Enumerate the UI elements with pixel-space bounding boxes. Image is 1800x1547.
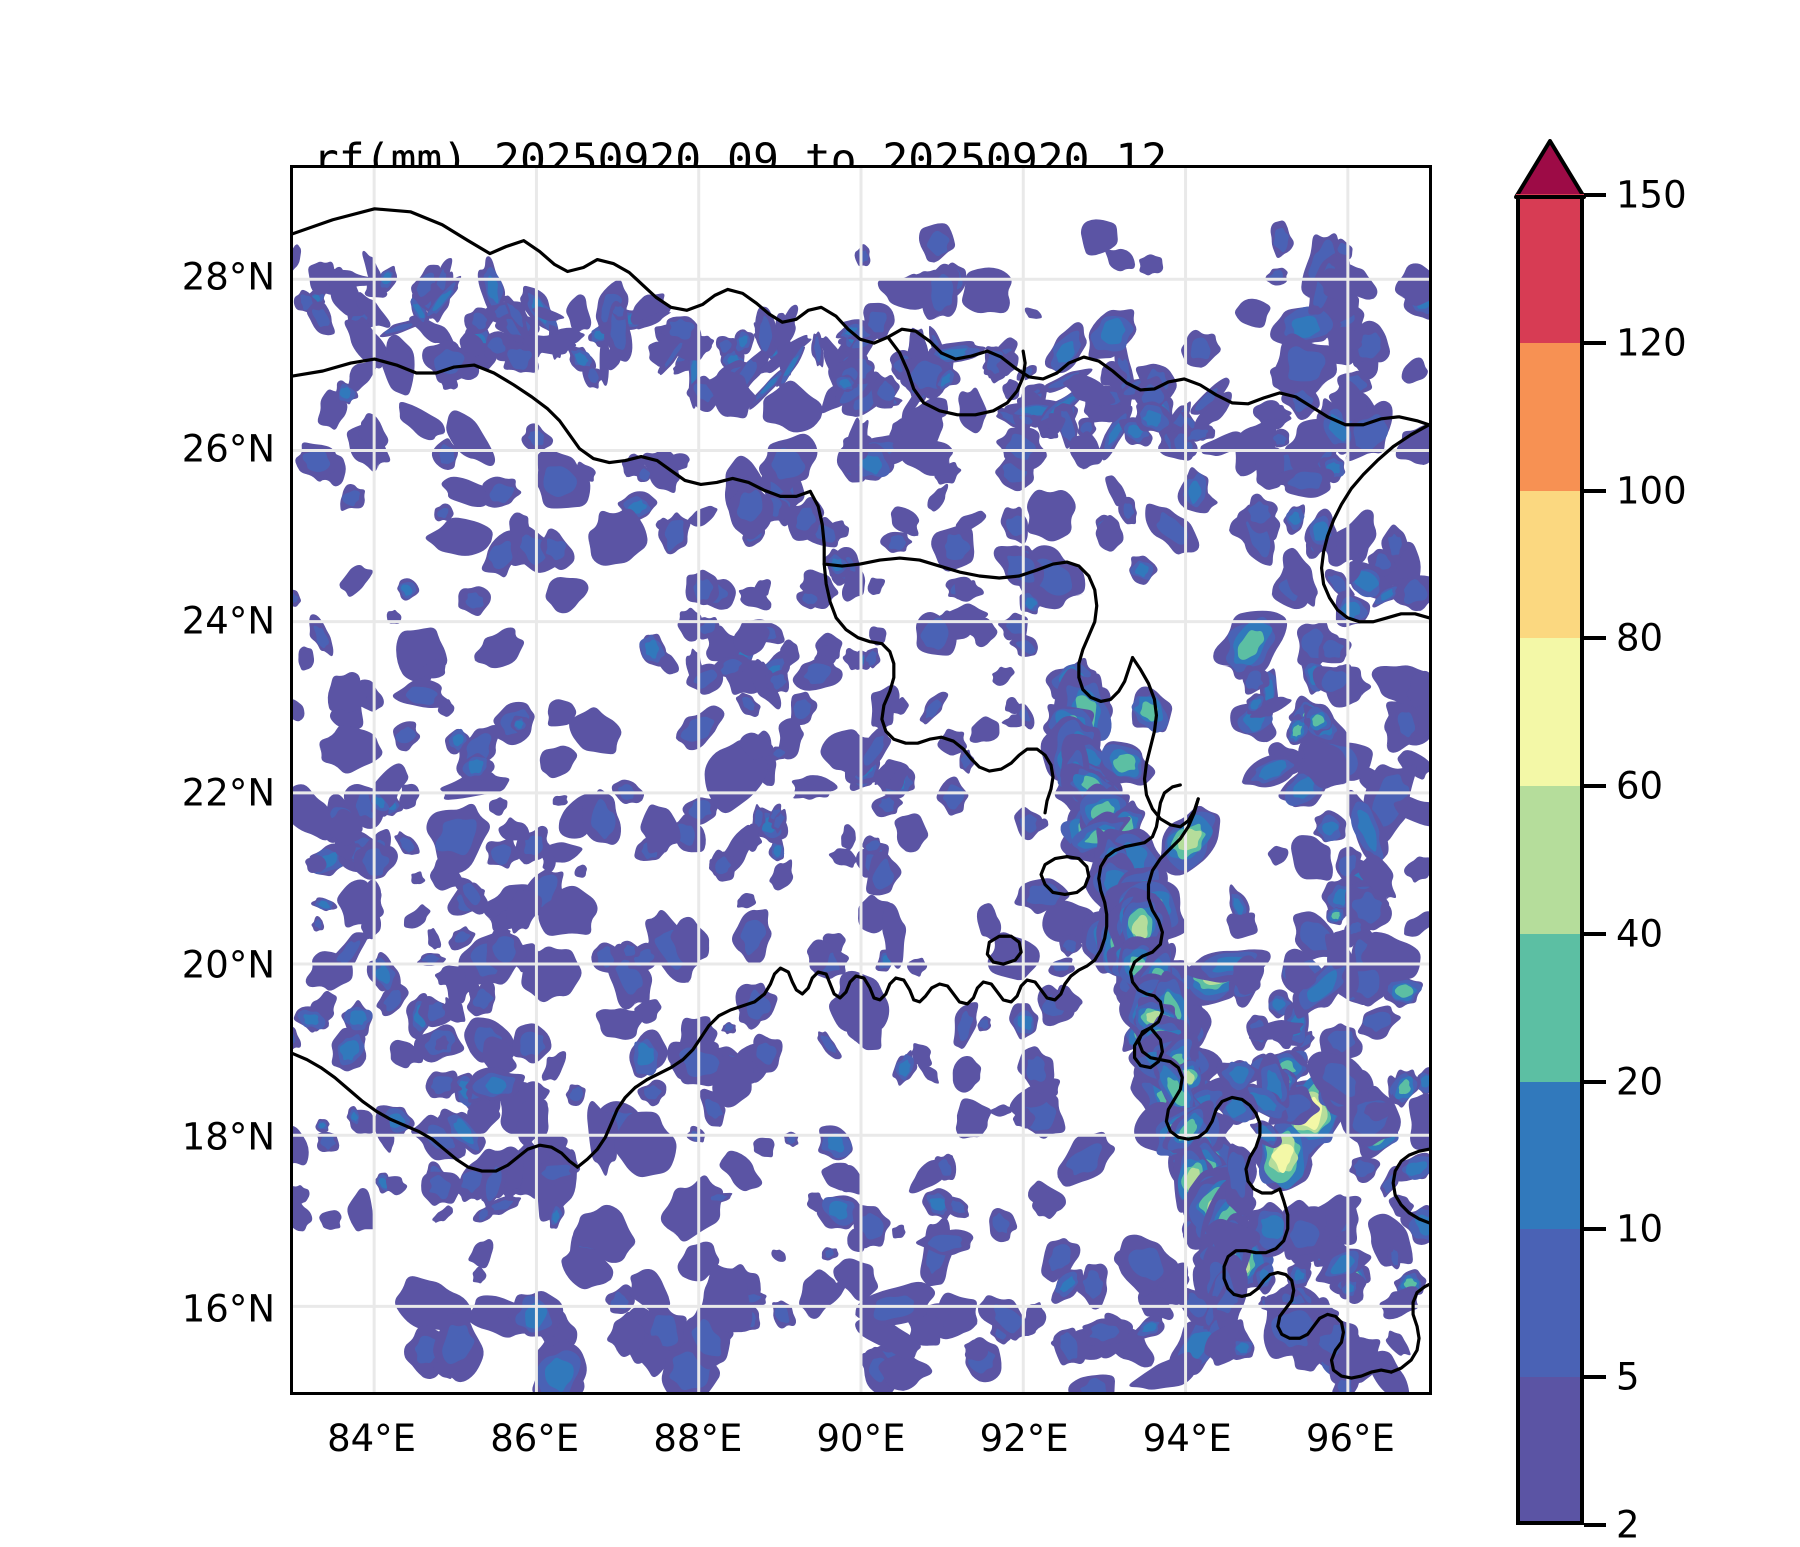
colorbar-tick-label: 40 <box>1616 912 1663 955</box>
precip-contour <box>737 893 756 908</box>
precip-contour <box>473 1266 487 1283</box>
precip-contour <box>1402 358 1428 384</box>
precip-contour <box>1025 307 1042 318</box>
y-tick-label: 18°N <box>40 1115 275 1158</box>
x-tick-label: 84°E <box>327 1417 416 1460</box>
precip-contour <box>1409 1094 1429 1151</box>
y-tick-label: 22°N <box>40 771 275 814</box>
precip-contour <box>545 577 589 613</box>
y-tick-label: 16°N <box>40 1287 275 1330</box>
colorbar-tick-label: 20 <box>1616 1060 1663 1103</box>
precip-contour <box>977 903 1001 941</box>
colorbar-over-arrow <box>1514 139 1586 199</box>
precip-contour <box>574 865 587 878</box>
precip-contour <box>953 1056 981 1093</box>
precip-contour <box>474 627 524 668</box>
precip-contour <box>386 1176 407 1195</box>
colorbar-tick <box>1584 1080 1606 1084</box>
precip-contour <box>992 667 1015 686</box>
precip-contour <box>319 1210 341 1230</box>
colorbar-tick <box>1584 193 1606 197</box>
precip-contour <box>293 244 301 274</box>
precip-contour <box>1338 1380 1353 1392</box>
y-tick-label: 20°N <box>40 943 275 986</box>
colorbar-tick <box>1584 784 1606 788</box>
colorbar-tick <box>1584 1523 1606 1527</box>
map-plot-area <box>293 168 1429 1392</box>
precip-contour <box>498 817 529 840</box>
precip-contour <box>1235 299 1271 328</box>
precip-contour <box>1396 423 1429 465</box>
precip-contour <box>569 707 621 755</box>
precip-contour <box>891 506 920 536</box>
precip-contour <box>540 746 577 778</box>
precip-contour <box>1404 911 1429 936</box>
colorbar-tick-label: 5 <box>1616 1356 1640 1399</box>
precip-contour <box>1226 912 1257 938</box>
precip-contour <box>328 672 368 712</box>
precip-contour <box>661 1175 723 1241</box>
precip-contour <box>769 859 793 890</box>
colorbar-bands <box>1516 195 1584 1525</box>
precip-contour <box>399 784 419 809</box>
precip-contour <box>771 1250 786 1262</box>
colorbar-tick <box>1584 1375 1606 1379</box>
precip-contour <box>553 795 568 806</box>
colorbar-tick <box>1584 341 1606 345</box>
precip-contour <box>955 580 985 602</box>
colorbar: 251020406080100120150 <box>1516 140 1776 1400</box>
precip-contour <box>688 506 718 527</box>
colorbar-tick-label: 10 <box>1616 1208 1663 1251</box>
precip-contour <box>489 797 508 816</box>
precip-contour <box>892 1225 905 1239</box>
x-tick-label: 90°E <box>817 1417 906 1460</box>
precip-contour <box>1268 846 1289 866</box>
colorbar-tick-label: 60 <box>1616 765 1663 808</box>
precip-contour <box>753 1138 774 1158</box>
precip-contour <box>1386 1331 1412 1357</box>
precip-contour <box>958 388 987 435</box>
colorbar-band <box>1516 1229 1584 1377</box>
precip-contour <box>566 294 591 332</box>
colorbar-band <box>1516 933 1584 1081</box>
precip-contour <box>799 1269 837 1319</box>
colorbar-band <box>1516 194 1584 342</box>
precip-contour <box>962 267 1012 313</box>
precip-contour <box>988 1104 1013 1116</box>
precip-contour <box>907 958 927 978</box>
precip-contour <box>404 904 431 928</box>
map-canvas <box>293 168 1429 1392</box>
precip-contour <box>468 1239 493 1268</box>
colorbar-band <box>1516 342 1584 490</box>
y-tick-label: 28°N <box>40 255 275 298</box>
precip-contour <box>542 1051 566 1082</box>
precip-contour <box>927 484 948 512</box>
precip-contour <box>668 453 690 471</box>
precip-contour <box>428 928 442 950</box>
rainfall-map-axes <box>290 165 1432 1395</box>
precip-contour <box>426 518 493 556</box>
precip-contour <box>719 1151 762 1191</box>
precip-contour <box>956 1098 991 1139</box>
precip-contour <box>432 1205 453 1222</box>
colorbar-band <box>1516 1081 1584 1229</box>
colorbar-band <box>1516 786 1584 934</box>
precip-contour <box>1139 254 1163 275</box>
x-tick-label: 96°E <box>1306 1417 1395 1460</box>
precip-contour <box>868 578 885 595</box>
colorbar-tick-label: 2 <box>1616 1504 1640 1547</box>
y-tick-label: 24°N <box>40 599 275 642</box>
x-tick-label: 86°E <box>490 1417 579 1460</box>
precip-contour <box>399 402 445 440</box>
colorbar-band <box>1516 1377 1584 1525</box>
colorbar-tick-label: 100 <box>1616 469 1687 512</box>
precip-contour <box>1105 249 1135 271</box>
x-tick-label: 88°E <box>653 1417 742 1460</box>
precip-contour <box>596 1008 643 1040</box>
colorbar-band <box>1516 490 1584 638</box>
precip-contour <box>339 565 372 597</box>
precip-contour <box>303 1014 318 1025</box>
colorbar-tick <box>1584 636 1606 640</box>
precip-contour <box>829 848 858 867</box>
colorbar-tick <box>1584 1227 1606 1231</box>
precip-contour <box>1336 510 1376 554</box>
y-tick-label: 26°N <box>40 427 275 470</box>
precip-contour <box>347 1188 375 1231</box>
colorbar-tick <box>1584 932 1606 936</box>
colorbar-tick <box>1584 489 1606 493</box>
x-tick-label: 92°E <box>980 1417 1069 1460</box>
precip-contour <box>411 871 425 884</box>
precip-contour <box>1395 263 1429 306</box>
precip-contour <box>970 716 1000 743</box>
precip-contour <box>964 1339 988 1362</box>
colorbar-tick-label: 120 <box>1616 321 1687 364</box>
precip-contour <box>894 813 928 853</box>
colorbar-tick-label: 80 <box>1616 617 1663 660</box>
precip-contour <box>843 648 860 670</box>
x-tick-label: 94°E <box>1143 1417 1232 1460</box>
precip-contour <box>841 824 856 851</box>
precip-contour <box>1027 490 1076 542</box>
colorbar-tick-label: 150 <box>1616 174 1687 217</box>
colorbar-band <box>1516 638 1584 786</box>
precip-contour <box>293 699 304 721</box>
precip-contour <box>1404 856 1429 882</box>
precip-contour <box>298 647 314 671</box>
precip-contour <box>293 1117 309 1167</box>
